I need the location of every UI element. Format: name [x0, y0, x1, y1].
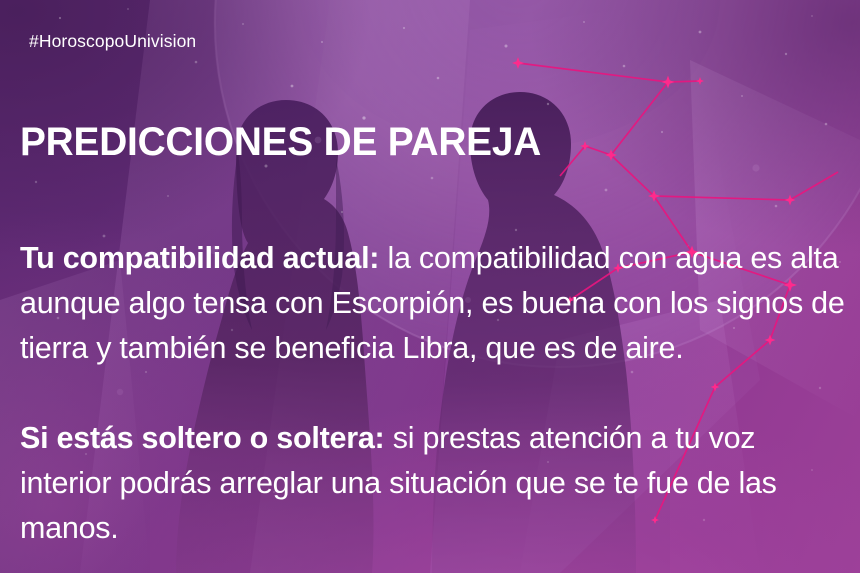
paragraph-compatibility-lead: Tu compatibilidad actual:: [20, 241, 379, 275]
text-content: #HoroscopoUnivision PREDICCIONES DE PARE…: [0, 0, 860, 573]
horoscope-card: #HoroscopoUnivision PREDICCIONES DE PARE…: [0, 0, 860, 573]
page-title: PREDICCIONES DE PAREJA: [20, 120, 541, 164]
paragraph-single: Si estás soltero o soltera: si prestas a…: [20, 416, 848, 551]
paragraph-compatibility: Tu compatibilidad actual: la compatibili…: [20, 236, 848, 371]
paragraph-single-lead: Si estás soltero o soltera:: [20, 421, 384, 455]
hashtag-label: #HoroscopoUnivision: [29, 31, 196, 52]
body-copy: Tu compatibilidad actual: la compatibili…: [20, 205, 848, 573]
